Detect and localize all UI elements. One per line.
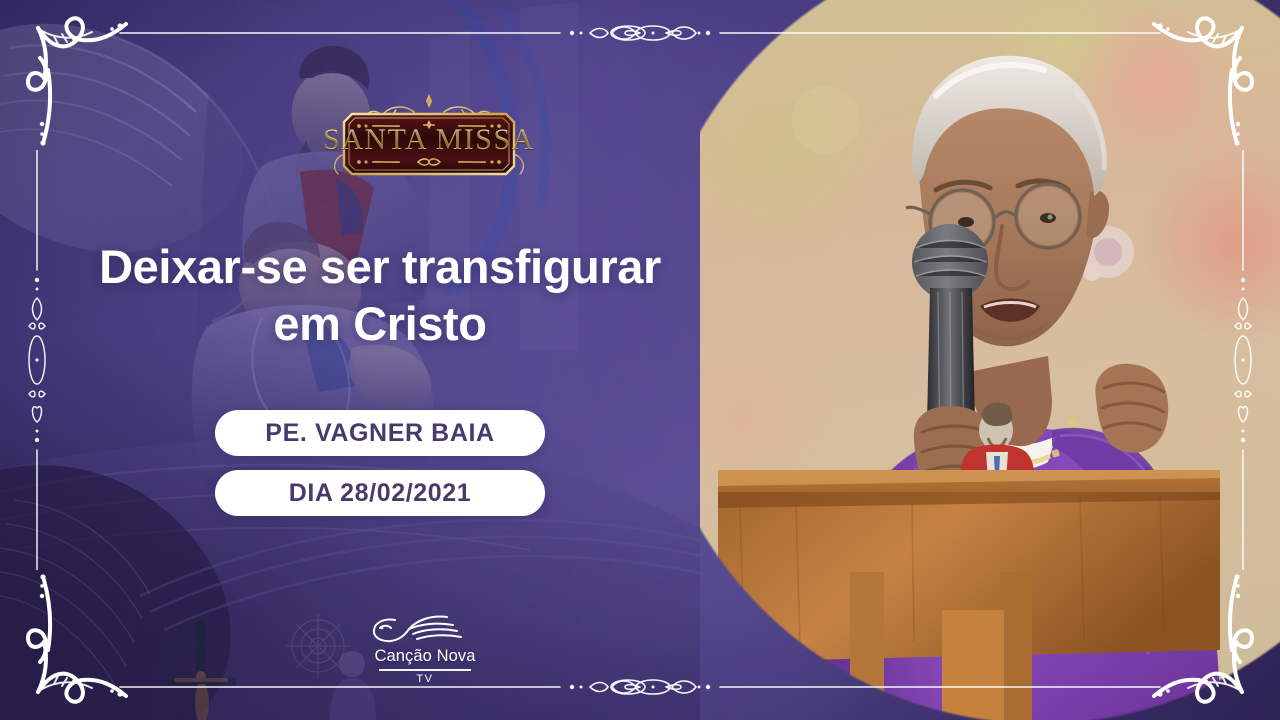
logo-divider bbox=[379, 669, 471, 671]
date-pill: DIA 28/02/2021 bbox=[215, 470, 545, 516]
program-badge: SANTA MISSA bbox=[318, 92, 540, 196]
program-badge-label: SANTA MISSA bbox=[318, 123, 540, 157]
headline-line-1: Deixar-se ser transfigurar bbox=[60, 238, 700, 295]
headline-line-2: em Cristo bbox=[60, 295, 700, 352]
credits-group: PE. VAGNER BAIA DIA 28/02/2021 bbox=[60, 410, 700, 516]
priest-photo bbox=[700, 0, 1280, 720]
logo-brand-name: Canção Nova bbox=[355, 647, 495, 666]
logo-sub-label: TV bbox=[355, 673, 495, 685]
broadcast-lower-third-slate: SANTA MISSA Deixar-se ser transfigurar e… bbox=[0, 0, 1280, 720]
celebrant-pill: PE. VAGNER BAIA bbox=[215, 410, 545, 456]
dove-icon bbox=[365, 612, 485, 646]
page-title: Deixar-se ser transfigurar em Cristo bbox=[60, 238, 700, 353]
cancao-nova-logo: Canção Nova TV bbox=[355, 612, 495, 685]
